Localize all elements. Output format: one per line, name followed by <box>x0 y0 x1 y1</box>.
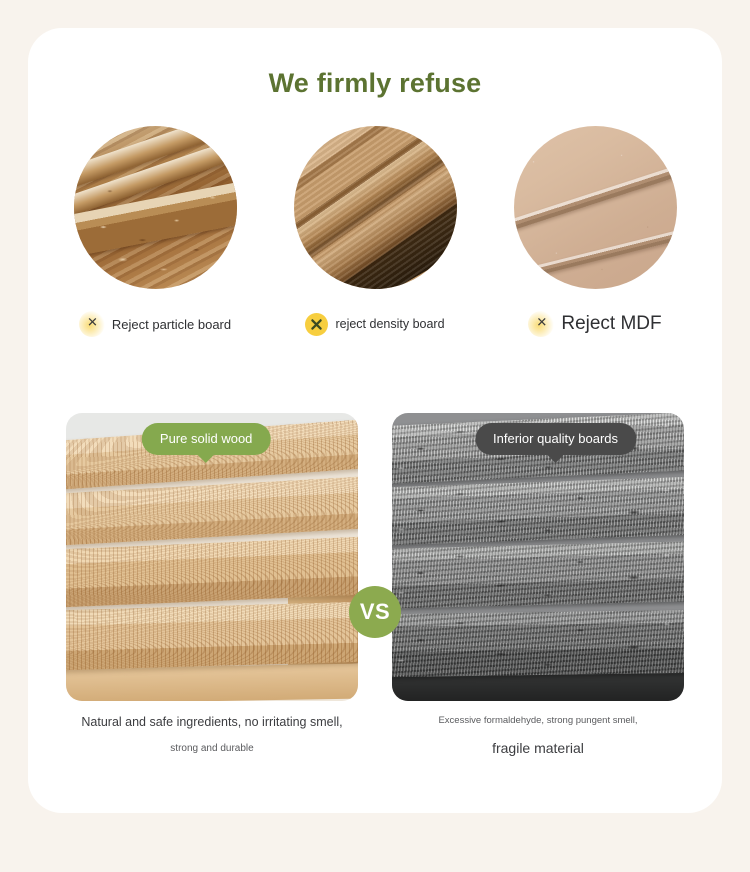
particle-board-photo <box>74 126 237 289</box>
x-circle-icon: ✕ <box>528 311 554 337</box>
reject-item-mdf <box>500 126 690 289</box>
grain-overlay <box>514 126 677 289</box>
gray-slab <box>392 609 684 677</box>
vs-badge: VS <box>349 586 401 638</box>
chip-speckles <box>74 126 237 289</box>
x-glyph: ✕ <box>87 316 98 329</box>
caption-good-line2: strong and durable <box>66 743 358 754</box>
badge-inferior-quality-boards: Inferior quality boards <box>475 423 636 455</box>
reject-label-mdf: ✕ Reject MDF <box>500 311 690 337</box>
x-glyph: ✕ <box>536 316 547 329</box>
reject-item-density-board <box>280 126 470 289</box>
badge-pure-solid-wood: Pure solid wood <box>142 423 271 455</box>
comparison-section: Pure solid wood Inferior quality boards … <box>66 413 684 756</box>
reject-label-particle-board: ✕ Reject particle board <box>60 311 250 337</box>
comparison-caption-row: Natural and safe ingredients, no irritat… <box>66 715 684 756</box>
x-circle-icon <box>305 313 328 336</box>
comparison-col-good: Pure solid wood <box>66 413 358 701</box>
reject-label-text: Reject MDF <box>561 313 661 335</box>
reject-label-text: reject density board <box>335 317 444 331</box>
wood-plank <box>66 602 358 671</box>
mdf-board-photo <box>514 126 677 289</box>
x-circle-icon: ✕ <box>79 311 105 337</box>
caption-bad-line1: Excessive formaldehyde, strong pungent s… <box>392 715 684 726</box>
reject-label-text: Reject particle board <box>112 317 231 332</box>
reject-photo-row <box>28 126 722 289</box>
comparison-photo-row: Pure solid wood Inferior quality boards … <box>66 413 684 701</box>
content-card: We firmly refuse <box>28 28 722 813</box>
density-board-photo <box>294 126 457 289</box>
reject-label-density-board: reject density board <box>280 311 470 337</box>
grain-overlay <box>294 126 457 289</box>
caption-bad: Excessive formaldehyde, strong pungent s… <box>392 715 684 756</box>
page-title: We firmly refuse <box>28 68 722 99</box>
reject-item-particle-board <box>60 126 250 289</box>
wood-plank <box>66 536 358 607</box>
caption-good: Natural and safe ingredients, no irritat… <box>66 715 358 756</box>
reject-label-row: ✕ Reject particle board reject density b… <box>28 311 722 337</box>
caption-bad-line2: fragile material <box>392 740 684 756</box>
comparison-col-bad: Inferior quality boards <box>392 413 684 701</box>
gray-slab <box>392 541 684 610</box>
gray-slab <box>392 476 684 545</box>
caption-good-line1: Natural and safe ingredients, no irritat… <box>66 715 358 729</box>
inferior-gray-board-photo <box>392 413 684 701</box>
